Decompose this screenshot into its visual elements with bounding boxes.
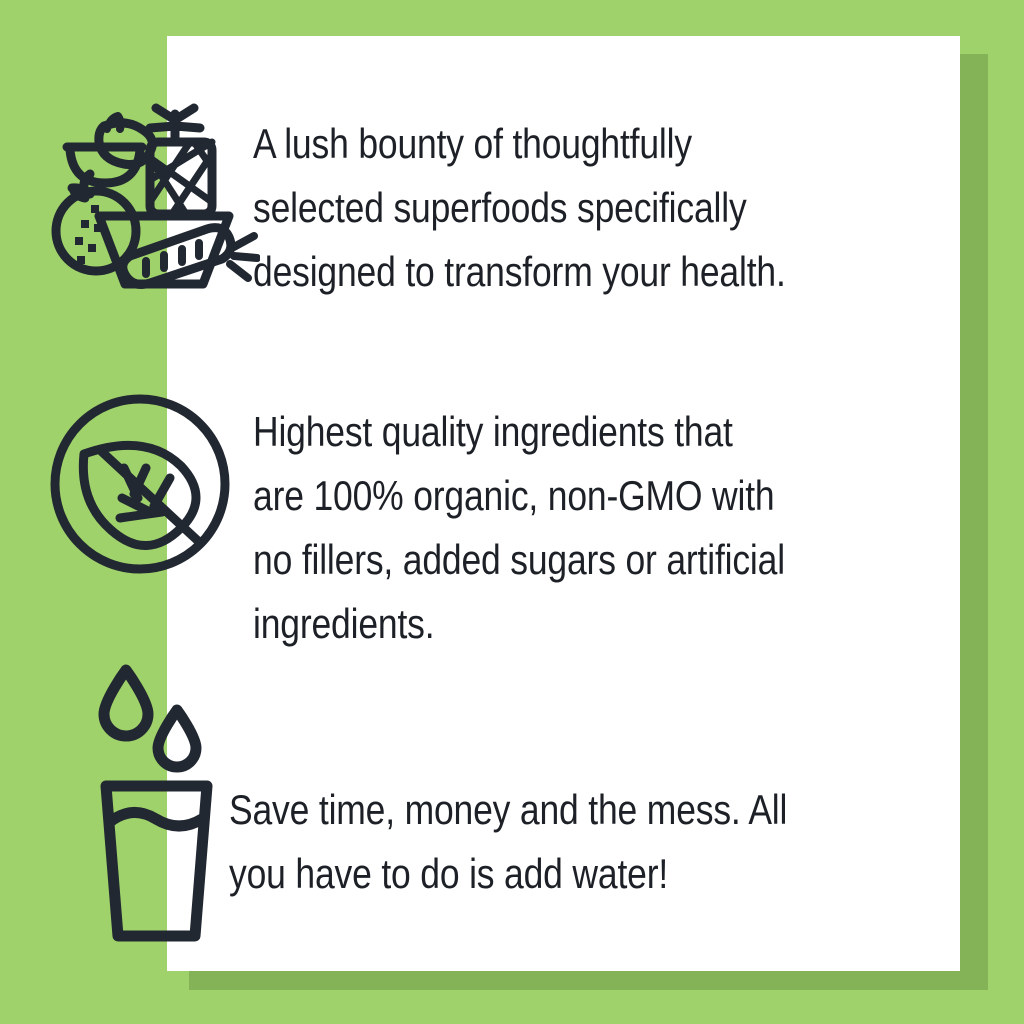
benefit-line-inner: no fillers, added sugars or artificial bbox=[253, 528, 969, 592]
benefit-text-1: A lush bounty of thoughtfully selected s… bbox=[253, 112, 969, 304]
benefit-line-inner: Save time, money and the mess. All bbox=[229, 778, 969, 842]
fruit-basket-icon bbox=[44, 98, 260, 290]
benefit-line-inner: A lush bounty of thoughtfully bbox=[253, 112, 969, 176]
benefit-line-inner: Highest quality ingredients that bbox=[253, 400, 969, 464]
promo-graphic: A lush bounty of thoughtfully selected s… bbox=[0, 0, 1024, 1024]
benefit-line: no fillers, added sugars or artificial bbox=[253, 528, 969, 592]
leaf-circle-icon bbox=[48, 392, 232, 576]
benefit-line: Highest quality ingredients that bbox=[253, 400, 969, 464]
benefit-line: selected superfoods specifically bbox=[253, 176, 969, 240]
benefit-line: ingredients. bbox=[253, 592, 969, 656]
benefit-line-inner: designed to transform your health. bbox=[253, 240, 969, 304]
benefit-line: are 100% organic, non-GMO with bbox=[253, 464, 969, 528]
benefit-line-inner: you have to do is add water! bbox=[229, 842, 969, 906]
benefit-line-inner: ingredients. bbox=[253, 592, 969, 656]
benefit-text-3: Save time, money and the mess. All you h… bbox=[229, 778, 969, 906]
benefit-line-inner: selected superfoods specifically bbox=[253, 176, 969, 240]
benefit-line: you have to do is add water! bbox=[229, 842, 969, 906]
benefit-line: A lush bounty of thoughtfully bbox=[253, 112, 969, 176]
benefit-line-inner: are 100% organic, non-GMO with bbox=[253, 464, 969, 528]
water-drop-small bbox=[158, 710, 196, 767]
benefit-text-2: Highest quality ingredients that are 100… bbox=[253, 400, 969, 656]
benefit-line: Save time, money and the mess. All bbox=[229, 778, 969, 842]
water-drop-large bbox=[104, 670, 148, 736]
water-glass-icon bbox=[98, 662, 220, 944]
benefit-line: designed to transform your health. bbox=[253, 240, 969, 304]
